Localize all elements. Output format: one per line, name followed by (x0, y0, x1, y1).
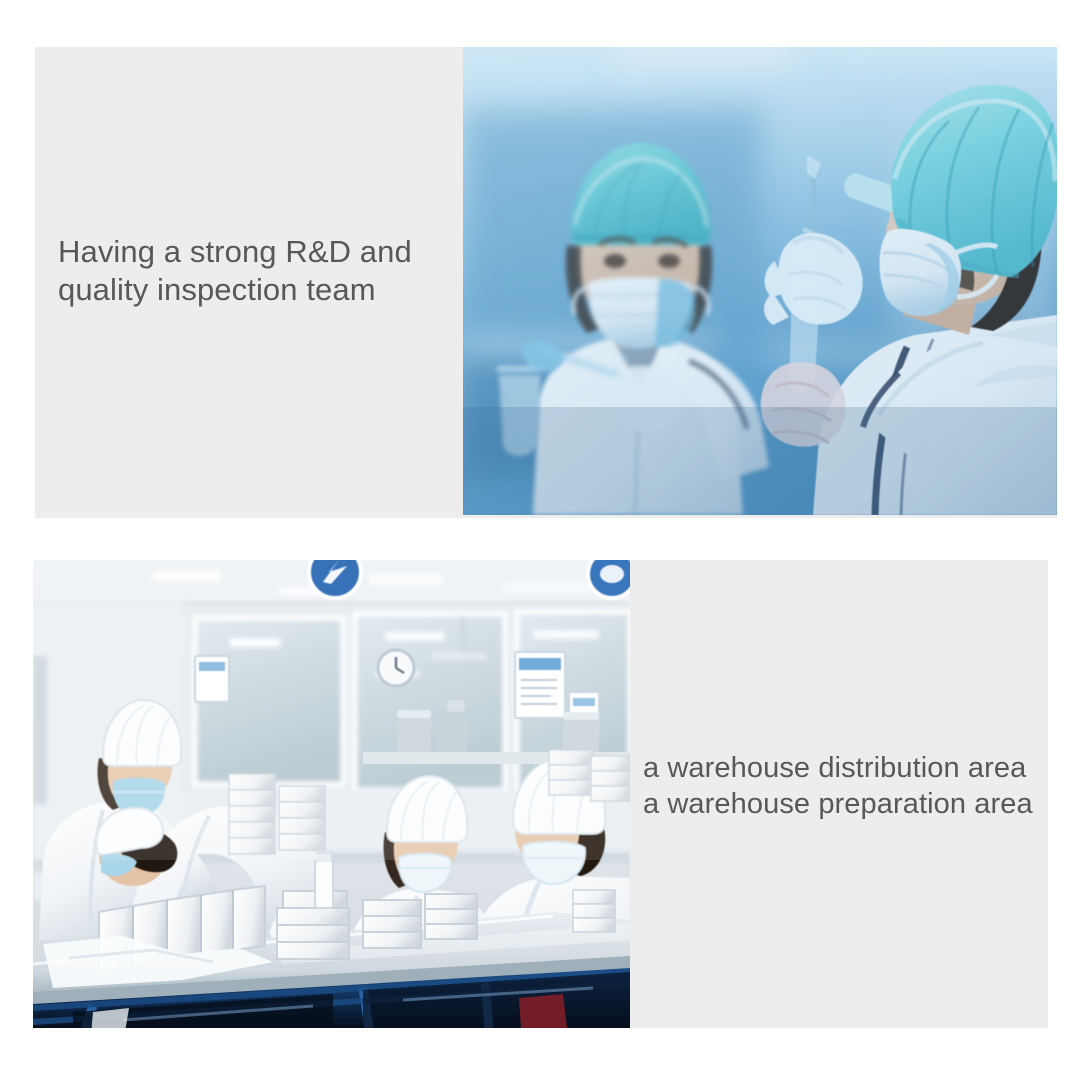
warehouse-packing-illustration (33, 560, 630, 1028)
caption-warehouse: a warehouse distribution area a warehous… (643, 750, 1063, 823)
section-warehouse: a warehouse distribution area a warehous… (33, 560, 1048, 1028)
white-bottle (315, 854, 333, 908)
warehouse-packing-photo (33, 560, 630, 1028)
lab-technicians-illustration (463, 47, 1057, 515)
caption-rnd-quality: Having a strong R&D and quality inspecti… (58, 233, 458, 309)
lab-technicians-photo (463, 47, 1057, 515)
section-rnd-quality: Having a strong R&D and quality inspecti… (35, 47, 1057, 518)
